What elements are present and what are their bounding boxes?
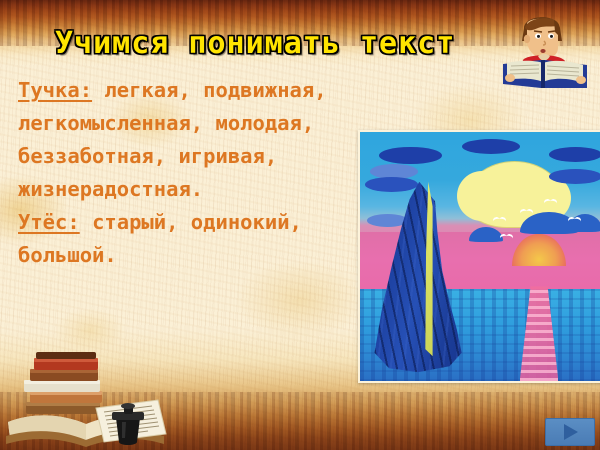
painting-seagull-2: [520, 209, 533, 216]
painting-cloud-5: [365, 177, 418, 192]
slide-title: Учимся понимать текст: [55, 26, 535, 61]
painting-cloud-3: [549, 147, 600, 162]
painting-seagull-1: [493, 217, 506, 224]
painting-seagull-5: [568, 217, 581, 224]
next-slide-button[interactable]: [545, 418, 595, 446]
term-utes: Утёс:: [18, 210, 80, 234]
slide-canvas: Учимся понимать текст Тучка: легкая, под…: [0, 0, 600, 450]
boy-reading-icon: [497, 8, 593, 92]
illustration-painting: [358, 130, 600, 383]
play-triangle-icon: [564, 424, 578, 440]
old-books-inkwell-icon: [0, 352, 205, 450]
term-tuchka: Тучка:: [18, 78, 92, 102]
paragraph-tuchka: Тучка: легкая, подвижная, легкомысленная…: [18, 74, 366, 206]
painting-seagull-4: [500, 234, 513, 241]
painting-seagull-3: [544, 199, 557, 206]
painting-canvas: [360, 132, 600, 381]
paragraph-utes: Утёс: старый, одинокий, большой.: [18, 206, 366, 272]
slide-body-text: Тучка: легкая, подвижная, легкомысленная…: [18, 74, 366, 272]
